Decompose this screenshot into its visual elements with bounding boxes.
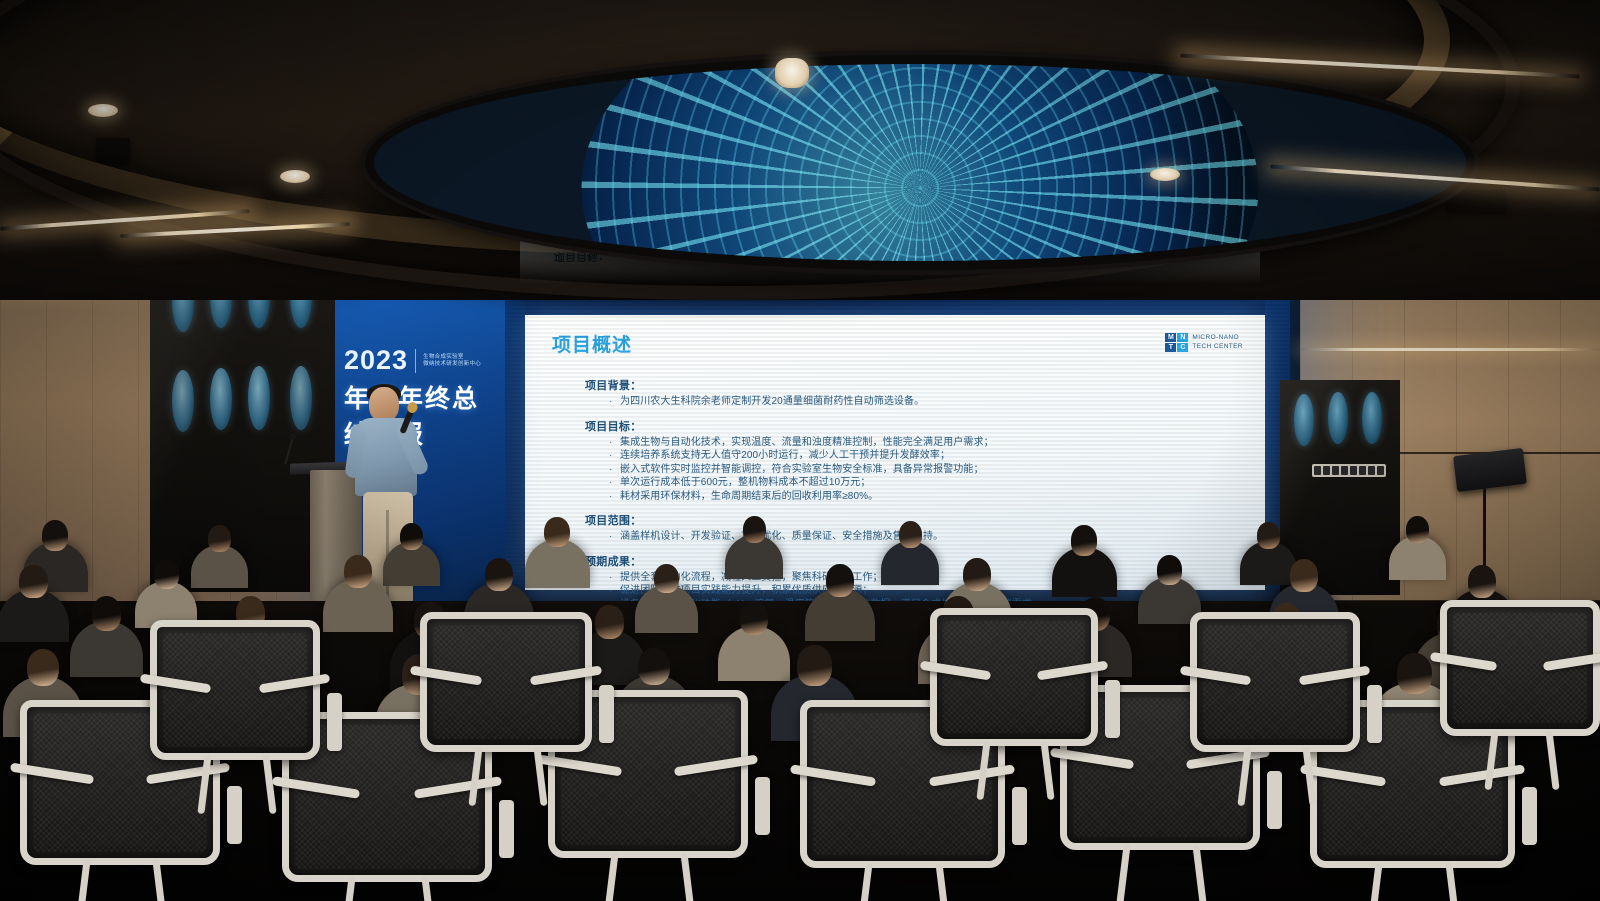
audience-head <box>344 555 372 588</box>
chair-writing-tablet[interactable] <box>1267 771 1282 829</box>
logo-mark-icon: MNTC <box>1165 333 1188 352</box>
exhibit-oval <box>172 370 194 432</box>
audience-head <box>1290 559 1318 592</box>
chair-mesh <box>1203 625 1347 739</box>
auditorium-chair[interactable] <box>150 620 320 760</box>
chair-back-frame <box>420 612 592 752</box>
auditorium-chair[interactable] <box>1190 612 1360 752</box>
chair-back-frame <box>150 620 320 760</box>
audience-head <box>899 521 922 548</box>
chair-back-frame <box>1190 612 1360 752</box>
auditorium-chair[interactable] <box>1440 600 1600 736</box>
chair-writing-tablet[interactable] <box>1012 787 1027 845</box>
audience-head <box>1397 653 1432 694</box>
slide-section-heading: 项目背景： <box>585 377 1235 393</box>
slide-section: 项目目标：集成生物与自动化技术，实现温度、流量和浊度精准控制，性能完全满足用户需… <box>585 418 1235 504</box>
slide-bullet-list: 集成生物与自动化技术，实现温度、流量和浊度精准控制，性能完全满足用户需求；连续培… <box>607 436 1235 504</box>
banner-subtitle: 生物合成实验室 微纳技术研发创新中心 <box>423 354 481 368</box>
audience-head <box>743 516 766 543</box>
audience-head <box>1468 565 1496 598</box>
logo-line-1: MICRO-NANO <box>1192 334 1243 343</box>
exhibit-oval <box>1294 394 1314 446</box>
banner-subtitle-2: 微纳技术研发创新中心 <box>423 361 481 368</box>
slide-section: 项目背景：为四川农大生科院余老师定制开发20通量细菌耐药性自动筛选设备。 <box>585 377 1235 409</box>
banner-year-block: 2023 生物合成实验室 微纳技术研发创新中心 <box>344 345 481 376</box>
chair-mesh <box>1453 613 1587 723</box>
exhibit-oval <box>290 366 312 430</box>
slide-bullet: 为四川农大生科院余老师定制开发20通量细菌耐药性自动筛选设备。 <box>607 395 1235 409</box>
slide-bullet: 单次运行成本低于600元，整机物料成本不超过10万元； <box>607 476 1235 490</box>
switch-panel[interactable] <box>1312 464 1386 477</box>
reflected-sphere-graphic <box>581 55 1258 270</box>
slide-bullet-list: 为四川农大生科院余老师定制开发20通量细菌耐药性自动筛选设备。 <box>607 395 1235 409</box>
audience-head <box>797 645 832 686</box>
ceiling-spotlight <box>775 58 809 88</box>
chair-back-frame <box>1440 600 1600 736</box>
slide-bullet: 集成生物与自动化技术，实现温度、流量和浊度精准控制，性能完全满足用户需求； <box>607 436 1235 450</box>
exhibit-oval <box>1328 392 1348 444</box>
audience-head <box>1157 555 1182 585</box>
ceiling-fixture <box>1446 190 1506 212</box>
chair-writing-tablet[interactable] <box>755 777 770 835</box>
slide-section-heading: 项目目标： <box>585 418 1235 434</box>
auditorium-chair[interactable] <box>420 612 592 752</box>
audience-head <box>208 525 231 552</box>
slide-bullet: 嵌入式软件实时监控并智能调控，符合实验室生物安全标准，具备异常报警功能； <box>607 463 1235 477</box>
audience-head <box>595 605 624 639</box>
banner-subtitle-1: 生物合成实验室 <box>423 354 481 361</box>
auditorium-chair[interactable] <box>930 608 1098 746</box>
audience-head <box>826 564 854 597</box>
chair-writing-tablet[interactable] <box>227 786 242 844</box>
audience-head <box>1406 516 1429 543</box>
audience-head <box>740 601 769 635</box>
audience-head <box>1071 525 1097 556</box>
slide-bullet: 连续培养系统支持无人值守200小时运行，减少人工干预并提升发酵效率； <box>607 449 1235 463</box>
audience-head <box>154 559 179 589</box>
chair-back-frame <box>930 608 1098 746</box>
banner-year: 2023 <box>344 345 408 376</box>
audience-head <box>1257 522 1280 549</box>
chair-writing-tablet[interactable] <box>599 685 614 743</box>
audience-head <box>92 596 121 630</box>
chair-mesh <box>163 633 307 747</box>
chair-writing-tablet[interactable] <box>1367 685 1382 743</box>
audience-head <box>638 648 670 686</box>
chair-mesh <box>943 621 1085 733</box>
logo-line-2: TECH CENTER <box>1192 343 1243 352</box>
audience-head <box>27 649 59 687</box>
audience-head <box>19 565 47 598</box>
ceiling-spotlight <box>1150 168 1180 181</box>
ceiling-spotlight <box>280 170 310 183</box>
audience-head <box>400 523 423 550</box>
ceiling-mirror-ellipse <box>365 55 1475 270</box>
chair-writing-tablet[interactable] <box>1522 787 1537 845</box>
chair-writing-tablet[interactable] <box>1105 680 1120 738</box>
slide-bullet: 耗材采用环保材料，生命周期结束后的回收利用率≥80%。 <box>607 490 1235 504</box>
audience-head <box>544 517 570 548</box>
auditorium-scene: 项目概述 MNTC MICRO-NANO TECH CENTER 项目背景：为四… <box>0 0 1600 901</box>
speaker-stand <box>1483 486 1486 570</box>
audience-head <box>963 558 991 591</box>
chair-writing-tablet[interactable] <box>327 693 342 751</box>
chair-writing-tablet[interactable] <box>499 800 514 858</box>
ceiling-spotlight <box>88 104 118 117</box>
micro-nano-logo: MNTC MICRO-NANO TECH CENTER <box>1165 333 1243 352</box>
exhibit-oval <box>1362 392 1382 444</box>
logo-words: MICRO-NANO TECH CENTER <box>1192 334 1243 351</box>
ceiling: 项目目标：集成生物与自动化技术，实现温度、流量和浊度精准控制，性能完全满足用户需… <box>0 0 1600 300</box>
slide-title: 项目概述 <box>552 330 632 357</box>
divider <box>415 349 416 373</box>
chair-mesh <box>433 625 579 739</box>
audience-head <box>42 520 68 551</box>
exhibit-cabinet-left <box>150 262 335 592</box>
audience-head <box>485 558 513 591</box>
presenter-head <box>369 387 399 422</box>
exhibit-oval <box>248 366 270 430</box>
exhibit-oval <box>210 368 232 430</box>
audience-head <box>654 564 679 594</box>
led-cove-strip <box>1300 348 1600 351</box>
